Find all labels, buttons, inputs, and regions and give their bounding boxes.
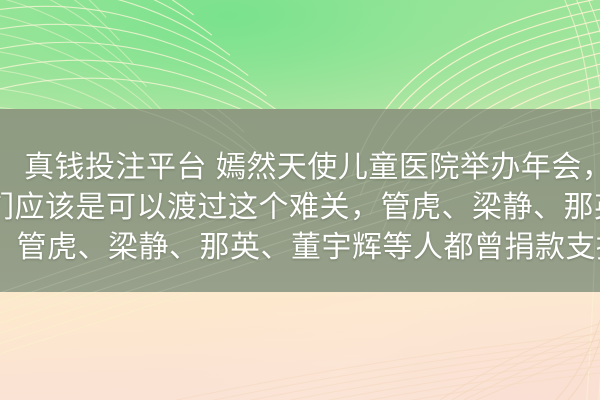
subtitle-line-3: ，管虎、梁静、那英、董宇辉等人都曾捐款支持医 xyxy=(0,227,600,269)
subtitle-text-block: 真钱投注平台 嫣然天使儿童医院举办年会，李 们应该是可以渡过这个难关，管虎、梁静… xyxy=(0,109,600,292)
subtitle-line-2: 们应该是可以渡过这个难关，管虎、梁静、那英、 xyxy=(0,187,600,229)
subtitle-line-1: 真钱投注平台 嫣然天使儿童医院举办年会，李 xyxy=(24,147,600,189)
promo-banner: 真钱投注平台 嫣然天使儿童医院举办年会，李 们应该是可以渡过这个难关，管虎、梁静… xyxy=(0,0,600,400)
